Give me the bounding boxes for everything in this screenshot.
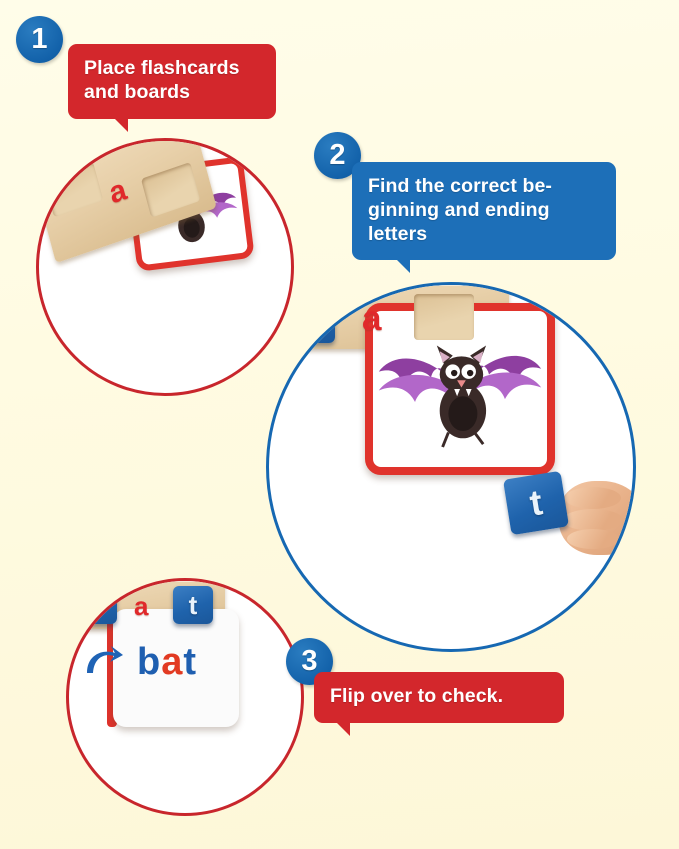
letter-tile-t[interactable]: t bbox=[173, 586, 213, 624]
step-3-flipped-card: bat bbox=[113, 609, 239, 727]
card-letter-b: b bbox=[137, 641, 161, 683]
step-2-text: Find the correct be-ginning and ending l… bbox=[368, 175, 552, 245]
callout-tail bbox=[336, 722, 350, 736]
step-1-badge: 1 bbox=[16, 16, 63, 63]
board-letter-a: a bbox=[362, 301, 381, 336]
letter-tile-t[interactable]: t bbox=[503, 471, 569, 535]
board-slot-right bbox=[414, 294, 474, 340]
step-3-callout: Flip over to check. bbox=[314, 672, 564, 723]
finger bbox=[565, 487, 621, 509]
step-1-photo-circle: a bbox=[36, 138, 294, 396]
step-2-photo-circle: b a t bbox=[266, 282, 636, 652]
instruction-infographic: a 1 Place flashcards and boards bbox=[0, 0, 679, 849]
step-3-photo-circle: bat b a t bbox=[66, 578, 304, 816]
board-letter-a: a bbox=[134, 593, 148, 619]
card-letter-a: a bbox=[161, 641, 183, 683]
finger bbox=[563, 509, 623, 531]
letter-tile-b[interactable]: b bbox=[279, 291, 335, 343]
card-letter-t: t bbox=[183, 641, 197, 683]
callout-tail bbox=[114, 118, 128, 132]
step-1-text: Place flashcards and boards bbox=[84, 57, 240, 103]
board-slot-left bbox=[44, 162, 104, 218]
step-2-callout: Find the correct be-ginning and ending l… bbox=[352, 162, 616, 260]
letter-tile-b[interactable]: b bbox=[77, 586, 117, 624]
card-word: bat bbox=[137, 641, 197, 684]
finger bbox=[567, 529, 619, 549]
step-1-callout: Place flashcards and boards bbox=[68, 44, 276, 119]
callout-tail bbox=[396, 259, 410, 273]
step-3-text: Flip over to check. bbox=[330, 685, 503, 707]
hand bbox=[559, 481, 636, 555]
board-slot-right bbox=[141, 162, 201, 218]
flip-arrow-icon bbox=[83, 643, 123, 677]
board-letter-a: a bbox=[106, 175, 130, 209]
